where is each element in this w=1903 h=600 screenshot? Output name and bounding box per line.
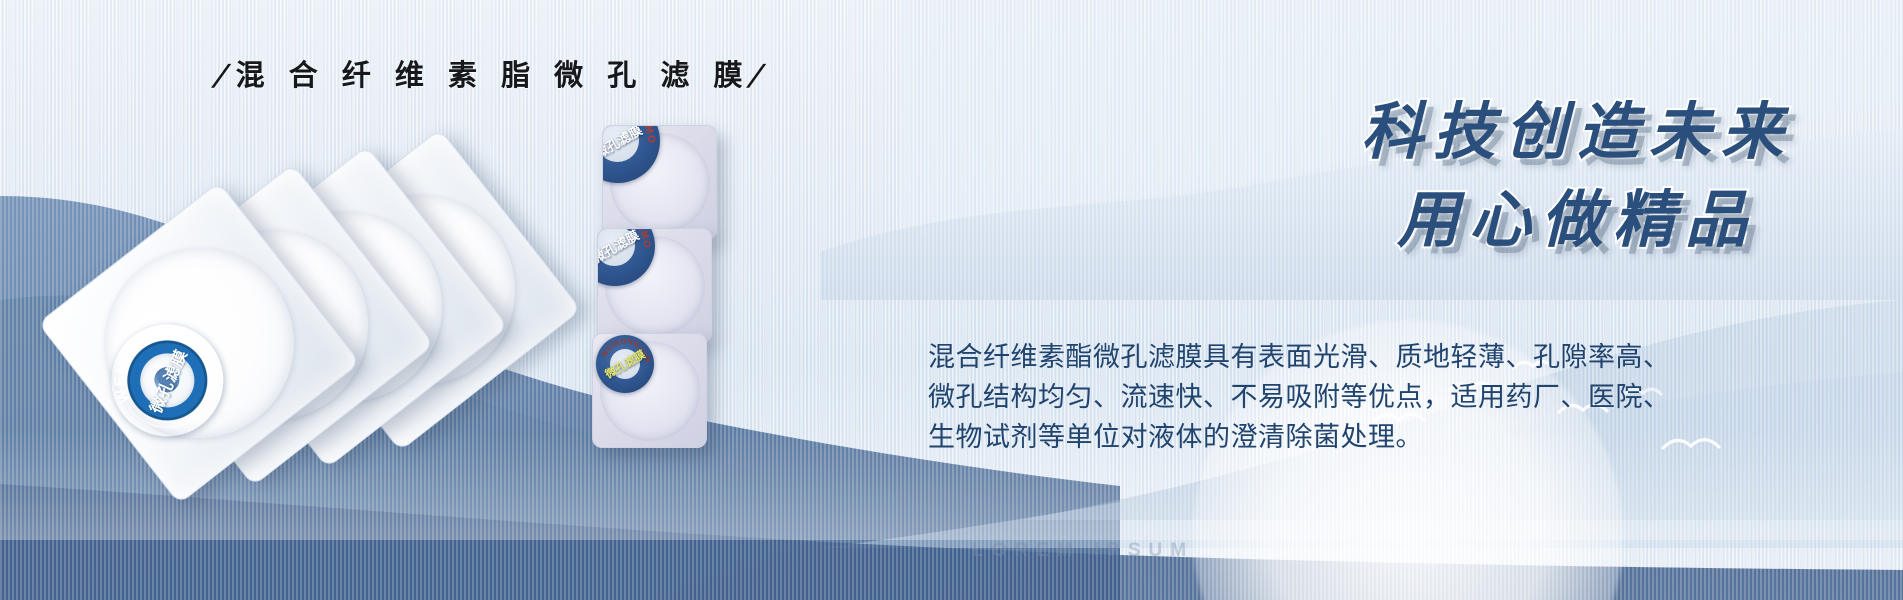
description-line-3: 生物试剂等单位对液体的澄清除菌处理。: [928, 418, 1648, 458]
description-line-2: 微孔结构均匀、流速快、不易吸附等优点，适用药厂、医院、: [928, 378, 1648, 418]
chip-brand-label: WEIKONGLUMO 微孔滤膜: [597, 228, 655, 286]
promo-banner: WEIKONGLUMO 微孔滤膜 WEIKONG: [0, 0, 1903, 600]
watermark-text: LOREM IPSUM: [972, 540, 1194, 562]
filter-chip: WEIKONGLUMO 微孔滤膜: [592, 333, 707, 448]
chip-brand-label: WEIKONGLUMO 微孔滤膜: [596, 335, 654, 393]
kicker-text: 混 合 纤 维 素 脂 微 孔 滤 膜: [236, 58, 750, 92]
headline-block: 科技创造未来 用心做精品: [1361, 88, 1793, 264]
description-block: 混合纤维素酯微孔滤膜具有表面光滑、质地轻薄、孔隙率高、 微孔结构均匀、流速快、不…: [928, 338, 1648, 458]
headline-line-1: 科技创造未来: [1361, 88, 1793, 176]
label-emblem: [149, 362, 184, 397]
page-title: /混 合 纤 维 素 脂 微 孔 滤 膜/: [214, 52, 771, 94]
filter-chip: WEIKONGLUMO 微孔滤膜: [602, 125, 717, 240]
description-line-1: 混合纤维素酯微孔滤膜具有表面光滑、质地轻薄、孔隙率高、: [928, 338, 1648, 378]
filter-chip: WEIKONGLUMO 微孔滤膜: [597, 228, 712, 343]
chip-brand-label: WEIKONGLUMO 微孔滤膜: [602, 125, 660, 183]
headline-line-2: 用心做精品: [1361, 176, 1757, 264]
kicker-right-bar: /: [746, 58, 775, 92]
